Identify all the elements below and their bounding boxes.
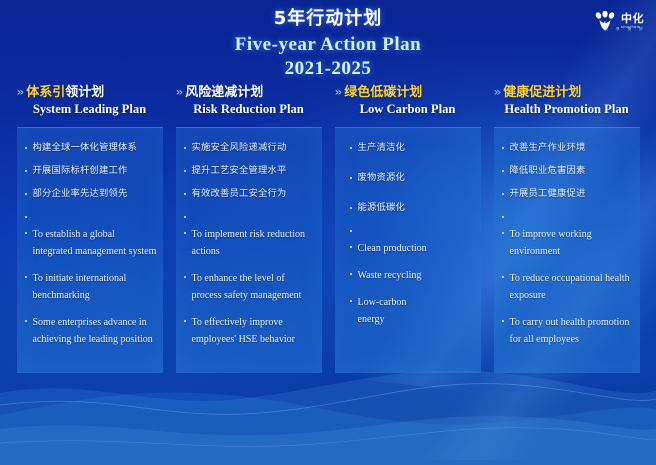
list-item: 降低职业危害因素 [501,164,634,177]
column-title-en: System Leading Plan [17,101,163,118]
list-item: To establish a global integrated managem… [24,226,157,260]
list-item: Low-carbon energy [349,294,422,328]
list-item: 开展员工健康促进 [501,187,634,200]
list-item: 有效改善员工安全行为 [183,187,316,200]
plan-columns: »体系引领计划 System Leading Plan 构建全球一体化管理体系 … [0,84,656,373]
list-item: Clean production [349,240,475,257]
column-title-cn-gold: 体系引 [26,85,65,100]
plan-column-system-leading: »体系引领计划 System Leading Plan 构建全球一体化管理体系 … [17,84,163,373]
list-item: To effectively improve employees' HSE be… [183,314,316,348]
slide-header: 5年行动计划 Five-year Action Plan 2021-2025 [0,0,656,80]
column-bullet-list: 实施安全风险递减行动 提升工艺安全管理水平 有效改善员工安全行为 To impl… [176,128,322,348]
list-item: To reduce occupational health exposure [501,270,634,304]
list-item: To enhance the level of process safety m… [183,270,316,304]
column-title-cn-white: 风险递减计划 [185,85,263,100]
list-item: Waste recycling [349,267,475,284]
list-item: 开展国际标杆创建工作 [24,164,157,177]
column-title-cn-gold: 健康促进计划 [503,85,581,100]
logo-name-cn: 中化 [621,13,644,24]
column-header: »体系引领计划 System Leading Plan [17,84,163,124]
plan-column-low-carbon: »绿色低碳计划 Low Carbon Plan 生产清洁化 废物资源化 能源低碳… [335,84,481,373]
list-item: 构建全球一体化管理体系 [24,141,157,154]
chevron-right-icon: » [17,85,25,99]
slide-title-cn: 5年行动计划 [0,6,656,32]
column-title-en: Risk Reduction Plan [176,101,322,118]
list-item: 实施安全风险递减行动 [183,141,316,154]
chevron-right-icon: » [494,85,502,99]
column-header: »健康促进计划 Health Promotion Plan [494,84,640,124]
plan-column-risk-reduction: »风险递减计划 Risk Reduction Plan 实施安全风险递减行动 提… [176,84,322,373]
list-item: 部分企业率先达到领先 [24,187,157,200]
list-spacer [24,210,157,216]
column-header: »绿色低碳计划 Low Carbon Plan [335,84,481,124]
column-title-cn: »体系引领计划 [17,84,163,101]
column-bullet-list: 生产清洁化 废物资源化 能源低碳化 Clean production Waste… [335,128,481,328]
plan-column-health-promotion: »健康促进计划 Health Promotion Plan 改善生产作业环境 降… [494,84,640,373]
list-item: To improve working environment [501,226,634,260]
column-title-cn: »健康促进计划 [494,84,640,101]
column-title-en: Low Carbon Plan [335,101,481,118]
list-item: 改善生产作业环境 [501,141,634,154]
column-panel: 构建全球一体化管理体系 开展国际标杆创建工作 部分企业率先达到领先 To est… [17,127,163,373]
list-spacer [501,210,634,216]
list-item: 提升工艺安全管理水平 [183,164,316,177]
slide-title-en: Five-year Action Plan [0,32,656,57]
column-panel: 生产清洁化 废物资源化 能源低碳化 Clean production Waste… [335,127,481,373]
chevron-right-icon: » [176,85,184,99]
list-item: To carry out health promotion for all em… [501,314,634,348]
column-panel: 改善生产作业环境 降低职业危害因素 开展员工健康促进 To improve wo… [494,127,640,373]
column-panel: 实施安全风险递减行动 提升工艺安全管理水平 有效改善员工安全行为 To impl… [176,127,322,373]
list-item: 废物资源化 [349,171,475,184]
list-item: Some enterprises advance in achieving th… [24,314,157,348]
column-header: »风险递减计划 Risk Reduction Plan [176,84,322,124]
logo-tagline: 创 · 享 · 美 · 好 [604,27,644,32]
column-bullet-list: 改善生产作业环境 降低职业危害因素 开展员工健康促进 To improve wo… [494,128,640,348]
list-item: To implement risk reduction actions [183,226,316,260]
list-item: To initiate international benchmarking [24,270,157,304]
column-title-cn: »风险递减计划 [176,84,322,101]
column-title-cn: »绿色低碳计划 [335,84,481,101]
chevron-right-icon: » [335,85,343,99]
column-bullet-list: 构建全球一体化管理体系 开展国际标杆创建工作 部分企业率先达到领先 To est… [17,128,163,348]
slide-canvas: 中化 sinochem 创 · 享 · 美 · 好 5年行动计划 Five-ye… [0,0,656,465]
list-item: 生产清洁化 [349,141,475,154]
column-title-cn-white: 领计划 [65,85,104,100]
column-title-cn-gold: 绿色低碳计划 [344,85,422,100]
slide-title-years: 2021-2025 [0,57,656,80]
list-item: 能源低碳化 [349,201,475,214]
column-title-en: Health Promotion Plan [494,101,640,118]
list-spacer [183,210,316,216]
list-spacer [349,224,475,230]
